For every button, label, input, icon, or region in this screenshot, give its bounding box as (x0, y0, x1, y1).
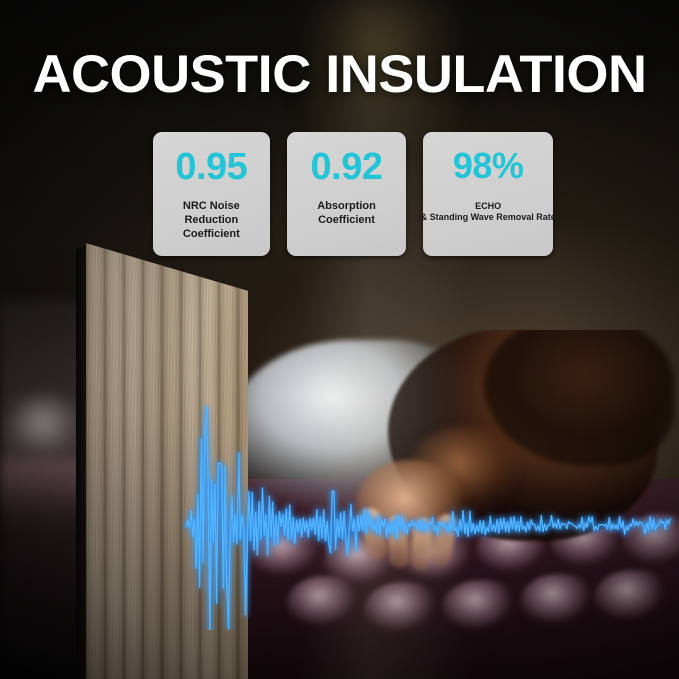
stat-value: 0.92 (311, 148, 383, 187)
stat-card-echo[interactable]: 98% ECHO & Standing Wave Removal Rate (423, 132, 553, 256)
background-left-pillow (6, 395, 86, 465)
page-title: ACOUSTIC INSULATION (0, 44, 679, 105)
wood-slat-acoustic-panel (76, 236, 248, 679)
baby-finger (410, 517, 434, 570)
stat-value: 0.95 (175, 148, 247, 187)
stat-label: ECHO & Standing Wave Removal Rate (423, 201, 553, 224)
stat-label-line1: NRC Noise (156, 199, 267, 213)
quilt-tuft (442, 580, 520, 638)
stat-label-line2: & Standing Wave Removal Rate (423, 212, 553, 224)
baby-finger (386, 515, 410, 568)
quilt-tuft (248, 526, 326, 584)
quilt-tuft (594, 570, 672, 628)
quilt-tuft (364, 582, 442, 640)
sleeping-baby-photo (238, 330, 679, 679)
stat-label-line1: ECHO (423, 201, 553, 213)
stats-card-row: 0.95 NRC Noise Reduction Coefficient 0.9… (153, 132, 553, 256)
stat-label-line2: Reduction Coefficient (156, 213, 267, 241)
stat-label-line1: Absorption (317, 199, 376, 213)
stat-label: NRC Noise Reduction Coefficient (153, 199, 270, 241)
stat-label-line2: Coefficient (317, 213, 376, 227)
stat-card-nrc[interactable]: 0.95 NRC Noise Reduction Coefficient (153, 132, 270, 256)
stat-label: Absorption Coefficient (314, 199, 379, 227)
panel-lighting-overlay (86, 236, 248, 679)
product-feature-image: ACOUSTIC INSULATION 0.95 NRC Noise Reduc… (0, 0, 679, 679)
stat-value: 98% (453, 148, 524, 185)
quilt-tuft (286, 576, 364, 634)
stat-card-absorption[interactable]: 0.92 Absorption Coefficient (287, 132, 407, 256)
quilt-tuft (520, 574, 598, 632)
